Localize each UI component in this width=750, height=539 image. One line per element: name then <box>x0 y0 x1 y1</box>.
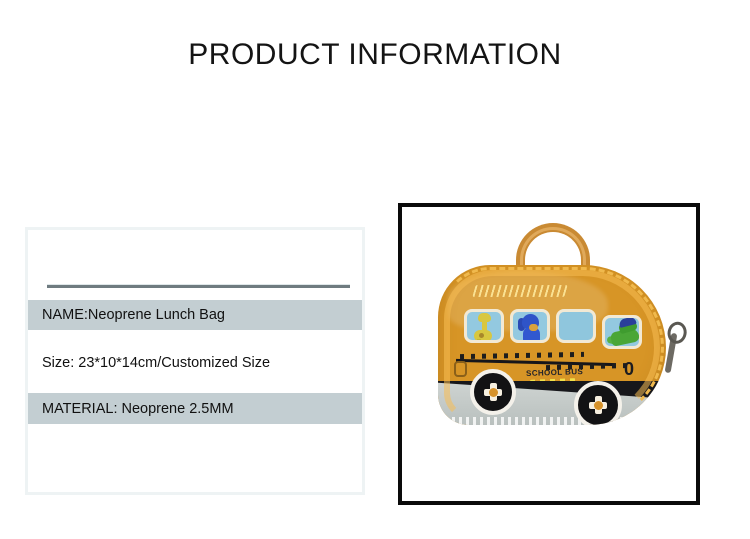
table-row-header <box>28 230 362 300</box>
front-wheel-hub-core <box>489 388 498 397</box>
rear-wheel-hub-core <box>594 401 603 410</box>
table-row-spacer-1 <box>28 330 362 344</box>
neoprene-lunch-bag-photo: SCHOOL BUS 0 <box>402 207 696 501</box>
table-row-size: Size: 23*10*14cm/Customized Size <box>28 344 362 382</box>
table-row-material: MATERIAL: Neoprene 2.5MM <box>28 393 362 424</box>
table-row-name-label: NAME:Neoprene Lunch Bag <box>42 307 225 323</box>
page-title: PRODUCT INFORMATION <box>0 38 750 72</box>
table-row-size-label: Size: 23*10*14cm/Customized Size <box>42 355 270 371</box>
bag-zipper-band <box>444 270 660 420</box>
lunch-bag-illustration: SCHOOL BUS 0 <box>438 265 666 425</box>
table-row-spacer-2 <box>28 382 362 393</box>
header-rule <box>47 285 350 288</box>
table-row-footer <box>28 424 362 492</box>
bag-zipper-pull <box>665 333 678 373</box>
product-specification-table: NAME:Neoprene Lunch Bag Size: 23*10*14cm… <box>25 227 365 495</box>
product-photo-frame: SCHOOL BUS 0 <box>398 203 700 505</box>
table-row-material-label: MATERIAL: Neoprene 2.5MM <box>42 401 234 417</box>
table-row-name: NAME:Neoprene Lunch Bag <box>28 300 362 330</box>
